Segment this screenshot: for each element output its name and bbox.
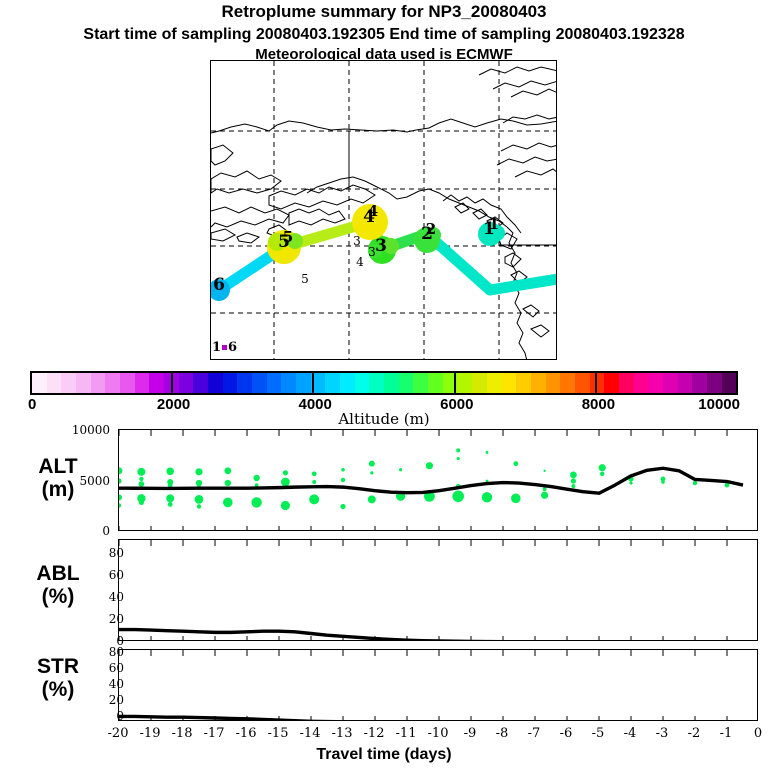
colorbar-bin-4 [91,373,106,393]
page-title: Retroplume summary for NP3_20080403 [0,2,768,22]
xtick--5: -5 [583,726,613,741]
colorbar-bin-27 [428,373,443,393]
alt-bubble [661,480,665,484]
colorbar-bin-31 [487,373,502,393]
alt-bubble [513,461,518,466]
map-number-5a: 5 [299,272,311,286]
str-ytick-40: 40 [78,677,124,691]
alt-bubble [283,470,288,475]
alt-plot [119,430,758,531]
blob-label-5-upper: 5 [281,228,295,246]
graticule [211,61,557,360]
colorbar-bin-35 [546,373,561,393]
abl-line [119,630,743,641]
blob-label-2-upper: 2 [424,220,438,238]
str-ytick-80: 80 [78,645,124,659]
xtick--4: -4 [615,726,645,741]
alt-bubble [309,494,319,504]
alt-bubble [599,464,606,471]
alt-bubble-series [119,448,729,510]
colorbar-bin-5 [105,373,120,393]
altitude-colorbar [30,371,738,395]
alt-bubble [369,461,375,467]
alt-bubble [452,491,464,503]
trajectory-blobs [211,204,505,301]
colorbar-bin-6 [120,373,135,393]
blob-label-6: 6 [212,275,226,295]
map-number-3a: 3 [351,234,363,248]
abl-plot [119,540,758,641]
alt-bubble [223,498,233,508]
alt-bubble [341,478,345,482]
colorbar-bin-40 [619,373,634,393]
alt-bubble [137,468,145,476]
colorbar-bin-44 [678,373,693,393]
colorbar-bin-7 [135,373,150,393]
colorbar-divider-6000 [454,371,456,395]
alt-bubble [281,501,290,510]
alt-bubble [541,492,548,499]
colorbar-bin-34 [531,373,546,393]
xtick--2: -2 [679,726,709,741]
map-number-3b: 3 [366,245,378,259]
abl-panel[interactable] [118,539,758,641]
xtick--8: -8 [487,726,517,741]
xtick--11: -11 [391,726,421,741]
colorbar-bin-24 [384,373,399,393]
abl-tickmarks [119,540,758,641]
colorbar-bin-43 [663,373,678,393]
alt-bubble [629,481,632,484]
x-axis-title: Travel time (days) [0,746,768,764]
legend-text-start: 1 [212,340,221,355]
colorbar-bin-42 [648,373,663,393]
colorbar-bin-21 [340,373,355,393]
alt-bubble [195,468,202,475]
colorbar-bin-47 [722,373,737,393]
sampling-times: Start time of sampling 20080403.192305 E… [0,26,768,44]
colorbar-bin-17 [281,373,296,393]
alt-mean-line [119,468,743,493]
colorbar-bin-41 [634,373,649,393]
colorbar-bin-2 [61,373,76,393]
colorbar-bin-33 [516,373,531,393]
alt-ytick-0: 0 [64,524,110,538]
abl-ytick-40: 40 [78,590,124,604]
colorbar-bin-20 [325,373,340,393]
alt-bubble [600,472,604,476]
alt-bubble [139,481,145,487]
colorbar-bin-13 [223,373,238,393]
colorbar-tick-2000: 2000 [148,396,200,413]
map-canvas [211,61,557,360]
map-legend-days: 16 [212,340,237,355]
xtick--19: -19 [135,726,165,741]
colorbar-divider-4000 [312,371,314,395]
colorbar-bin-12 [208,373,223,393]
str-line [119,716,743,721]
alt-bubble [119,503,121,507]
alt-bubble [399,468,402,471]
alt-bubble [368,495,376,503]
xtick--18: -18 [167,726,197,741]
colorbar-bin-10 [179,373,194,393]
colorbar-bin-22 [355,373,370,393]
alt-bubble [197,504,201,508]
alt-ytick-10000: 10000 [64,423,110,437]
xtick--3: -3 [647,726,677,741]
xtick--17: -17 [199,726,229,741]
blob-label-4-upper: 4 [366,202,380,220]
xtick--7: -7 [519,726,549,741]
colorbar-bin-15 [252,373,267,393]
alt-bubble [139,477,143,481]
alt-bubble [225,480,231,486]
alt-bubble [253,475,259,481]
colorbar-bin-32 [502,373,517,393]
alt-bubble [166,494,174,502]
alt-bubble [166,468,174,476]
str-ytick-0: 0 [78,709,124,723]
alt-bubble [426,462,433,469]
xtick-0: 0 [743,726,768,741]
xtick--1: -1 [711,726,741,741]
colorbar-bin-23 [369,373,384,393]
colorbar-bin-39 [604,373,619,393]
colorbar-bin-11 [193,373,208,393]
colorbar-bin-26 [413,373,428,393]
legend-text-end: 6 [228,340,237,355]
colorbar-bin-18 [296,373,311,393]
alt-bubble [281,478,290,487]
alt-bubble [168,502,173,507]
alt-panel[interactable] [118,429,758,531]
colorbar-tick-8000: 8000 [572,396,624,413]
alt-bubble [119,467,123,474]
alt-bubble [341,468,345,472]
alt-bubble [312,471,317,476]
colorbar-divider-2000 [171,371,173,395]
colorbar-bin-46 [707,373,722,393]
alt-bubble [571,478,576,483]
colorbar-bin-8 [149,373,164,393]
alt-bubble [482,492,492,502]
alt-bubble [543,487,547,491]
colorbar-tick-0: 0 [28,396,48,413]
xtick--13: -13 [327,726,357,741]
alt-bubble [370,471,373,474]
colorbar-bin-3 [76,373,91,393]
xtick--20: -20 [103,726,133,741]
alt-bubble [139,500,144,505]
alt-bubble [693,481,697,485]
alt-bubble [340,504,345,509]
colorbar-divider-8000 [595,371,597,395]
colorbar-tick-6000: 6000 [431,396,483,413]
str-tickmarks [119,650,758,721]
colorbar-bin-37 [575,373,590,393]
colorbar-tick-4000: 4000 [289,396,341,413]
xtick--12: -12 [359,726,389,741]
xtick--6: -6 [551,726,581,741]
colorbar-bin-1 [47,373,62,393]
colorbar-bin-25 [399,373,414,393]
abl-ytick-60: 60 [78,568,124,582]
alt-bubble [571,484,575,488]
str-ytick-60: 60 [78,661,124,675]
xtick--15: -15 [263,726,293,741]
xtick--9: -9 [455,726,485,741]
map-number-4a: 4 [354,255,366,269]
colorbar-bin-14 [237,373,252,393]
alt-bubble [457,457,460,460]
colorbar-axis-label: Altitude (m) [0,410,768,428]
alt-bubble [486,451,489,454]
colorbar-bin-29 [457,373,472,393]
alt-bubble [312,480,316,484]
alt-bubble [543,470,545,472]
xtick--10: -10 [423,726,453,741]
xtick--14: -14 [295,726,325,741]
blob-label-1-upper: 1 [487,215,501,233]
retroplume-map[interactable] [210,60,557,360]
colorbar-bin-45 [692,373,707,393]
alt-bubble [511,494,521,504]
colorbar-bin-30 [472,373,487,393]
alt-bubble [119,494,122,500]
alt-bubble [119,478,122,483]
abl-ytick-80: 80 [78,546,124,560]
alt-bubble [456,448,460,452]
abl-ytick-20: 20 [78,612,124,626]
colorbar-bin-16 [267,373,282,393]
alt-ytick-5000: 5000 [64,474,110,488]
str-ytick-20: 20 [78,693,124,707]
str-panel[interactable] [118,649,758,721]
alt-bubble [195,495,204,504]
alt-bubble [570,471,577,478]
legend-square-icon [222,345,227,350]
alt-bubble [251,497,261,507]
colorbar-bin-36 [560,373,575,393]
str-plot [119,650,758,721]
colorbar-tick-10000: 10000 [688,396,740,413]
colorbar-bin-0 [32,373,47,393]
xtick--16: -16 [231,726,261,741]
alt-bubble [224,467,231,474]
